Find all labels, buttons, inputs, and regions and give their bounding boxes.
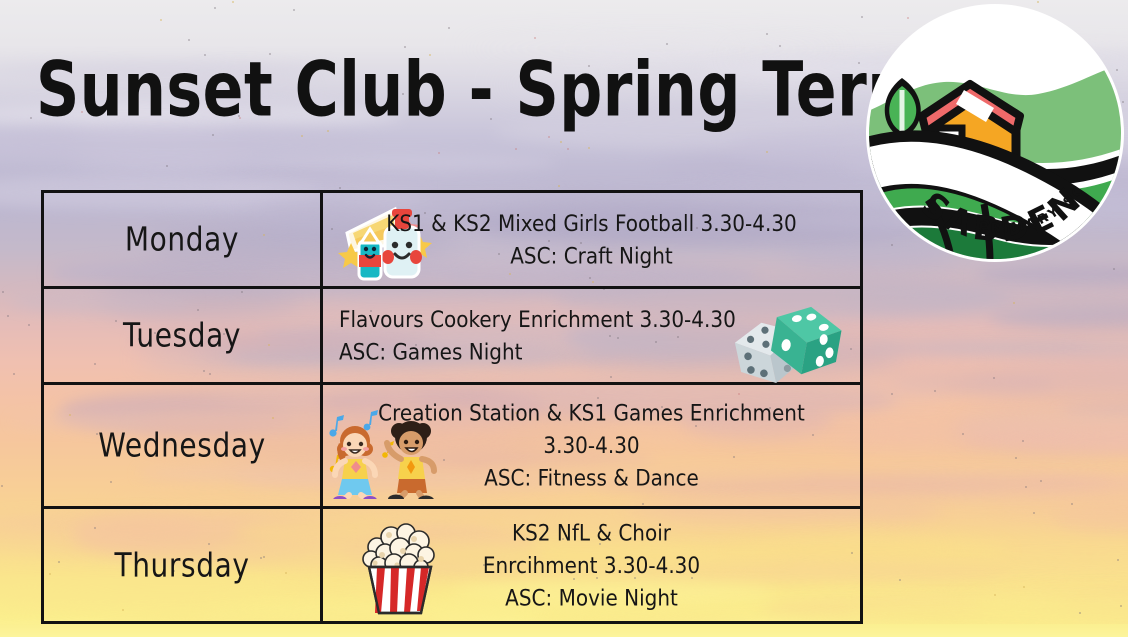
schedule-table: Monday: [41, 190, 863, 624]
speck: [588, 147, 590, 149]
speck: [560, 141, 562, 143]
speck: [232, 1, 234, 3]
speck: [1040, 480, 1042, 482]
speck: [1079, 612, 1081, 614]
speck: [30, 117, 32, 119]
activity-line: ASC: Craft Night: [323, 240, 860, 272]
activity-text-monday: KS1 & KS2 Mixed Girls Football 3.30-4.30…: [323, 207, 860, 272]
speck: [188, 39, 190, 41]
speck: [160, 19, 162, 21]
activity-line: KS2 NfL & Choir: [323, 516, 860, 548]
speck: [994, 594, 996, 596]
day-label: Tuesday: [123, 316, 241, 354]
speck: [166, 165, 168, 167]
speck: [1025, 486, 1027, 488]
speck: [907, 17, 909, 19]
activity-line: KS1 & KS2 Mixed Girls Football 3.30-4.30: [323, 207, 860, 239]
speck: [1015, 457, 1017, 459]
speck: [1, 485, 3, 487]
table-row: Wednesday: [44, 385, 860, 509]
speck: [1117, 559, 1119, 561]
speck: [515, 148, 517, 150]
speck: [293, 9, 295, 11]
speck: [567, 148, 569, 150]
day-cell-thursday: Thursday: [44, 509, 323, 621]
speck: [548, 136, 550, 138]
speck: [934, 390, 936, 392]
speck: [993, 377, 995, 379]
day-cell-wednesday: Wednesday: [44, 385, 323, 506]
sabden-primary-school-logo: SABDEN PRIMARY SCHOOL: [866, 4, 1124, 262]
speck: [891, 393, 893, 395]
speck: [1033, 512, 1035, 514]
bottom-glow-band: [0, 624, 1128, 637]
speck: [2, 291, 4, 293]
speck: [7, 315, 9, 317]
speck: [962, 433, 964, 435]
speck: [1113, 268, 1115, 270]
speck: [438, 152, 440, 154]
speck: [1116, 69, 1118, 71]
day-cell-tuesday: Tuesday: [44, 289, 323, 382]
speck: [899, 579, 901, 581]
day-label: Thursday: [115, 546, 250, 584]
speck: [1013, 302, 1015, 304]
activity-line: 3.30-4.30: [323, 429, 860, 461]
activity-line: Enrcihment 3.30-4.30: [323, 549, 860, 581]
day-cell-monday: Monday: [44, 193, 323, 286]
speck: [1023, 586, 1025, 588]
activity-line: Creation Station & KS1 Games Enrichment: [323, 397, 860, 429]
day-label: Monday: [125, 220, 239, 258]
speck: [534, 37, 536, 39]
activity-text-tuesday: Flavours Cookery Enrichment 3.30-4.30 AS…: [323, 303, 736, 368]
activity-cell-thursday: KS2 NfL & Choir Enrcihment 3.30-4.30 ASC…: [323, 509, 860, 621]
speck: [212, 134, 214, 136]
activity-text-thursday: KS2 NfL & Choir Enrcihment 3.30-4.30 ASC…: [323, 516, 860, 613]
speck: [766, 151, 768, 153]
table-row: Monday: [44, 193, 860, 289]
page-title: Sunset Club - Spring Term: [36, 52, 930, 128]
speck: [301, 135, 303, 137]
speck: [1122, 101, 1124, 103]
table-row: Thursday: [44, 509, 860, 621]
speck: [558, 185, 560, 187]
speck: [1120, 605, 1122, 607]
speck: [13, 373, 15, 375]
activity-text-wednesday: Creation Station & KS1 Games Enrichment …: [323, 397, 860, 494]
day-label: Wednesday: [98, 426, 266, 464]
activity-line: ASC: Fitness & Dance: [323, 462, 860, 494]
activity-cell-wednesday: Creation Station & KS1 Games Enrichment …: [323, 385, 860, 506]
speck: [28, 324, 30, 326]
speck: [1022, 440, 1024, 442]
table-row: Tuesday: [44, 289, 860, 385]
speck: [339, 187, 341, 189]
dice-icon: [726, 295, 856, 391]
speck: [891, 244, 893, 246]
poster-canvas: Sunset Club - Spring Term: [0, 0, 1128, 637]
speck: [861, 16, 863, 18]
speck: [766, 33, 768, 35]
speck: [448, 27, 450, 29]
speck: [1071, 503, 1073, 505]
activity-cell-tuesday: Flavours Cookery Enrichment 3.30-4.30 AS…: [323, 289, 860, 382]
activity-cell-monday: KS1 & KS2 Mixed Girls Football 3.30-4.30…: [323, 193, 860, 286]
speck: [1037, 1, 1039, 3]
activity-line: ASC: Movie Night: [323, 581, 860, 613]
activity-line: Flavours Cookery Enrichment 3.30-4.30: [339, 303, 736, 335]
activity-line: ASC: Games Night: [339, 336, 736, 368]
speck: [214, 7, 216, 9]
